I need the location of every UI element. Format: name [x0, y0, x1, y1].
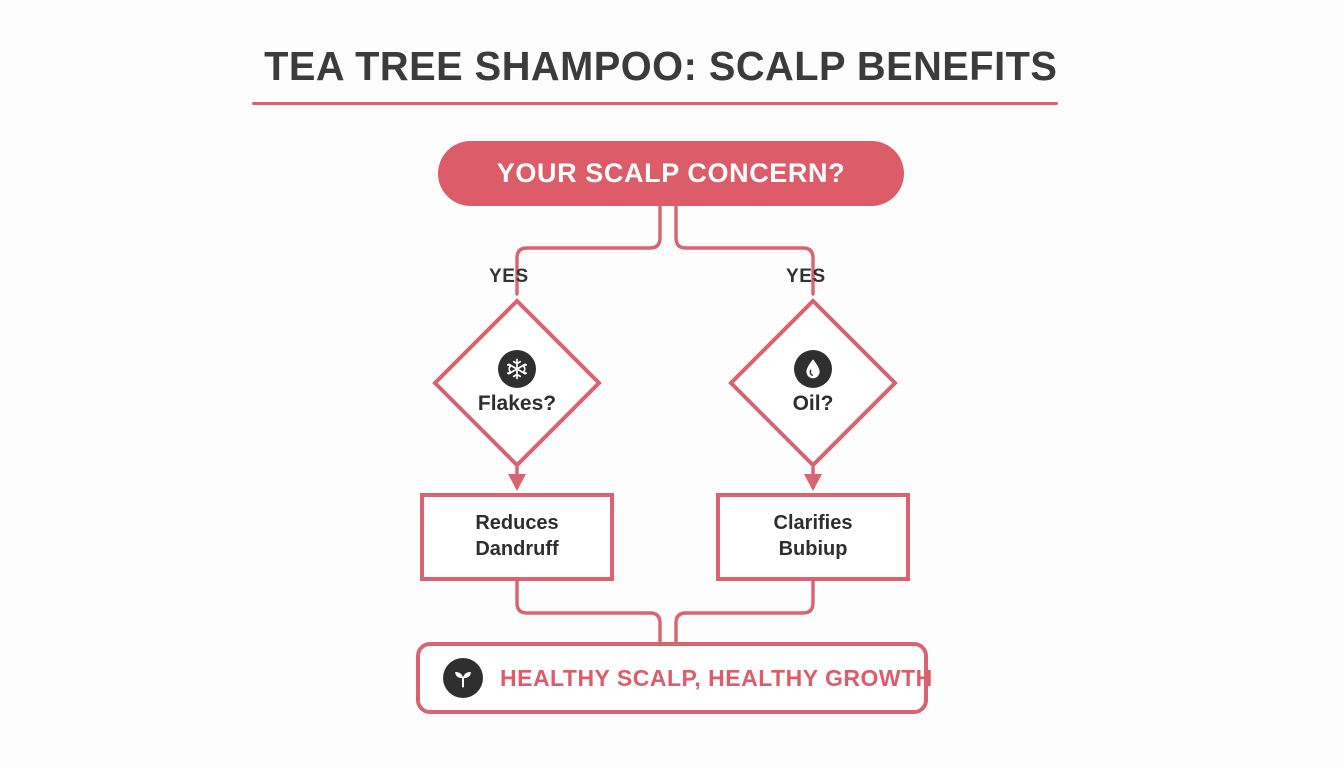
- result-node[interactable]: HEALTHY SCALP, HEALTHY GROWTH: [416, 642, 928, 714]
- decision-node-content: Oil?: [731, 301, 895, 465]
- outcome-line-1: Clarifies: [774, 512, 853, 534]
- water-droplet-icon: [794, 350, 832, 388]
- outcome-line-2: Bubiup: [779, 538, 848, 560]
- sprout-icon: [443, 658, 483, 698]
- outcome-node-buildup[interactable]: Clarifies Bubiup: [716, 493, 910, 581]
- result-node-label: HEALTHY SCALP, HEALTHY GROWTH: [500, 665, 933, 692]
- outcome-node-dandruff[interactable]: Reduces Dandruff: [420, 493, 614, 581]
- title-underline: [252, 102, 1058, 105]
- decision-node-content: Flakes?: [435, 301, 599, 465]
- snowflake-icon: [498, 350, 536, 388]
- decision-node-oil[interactable]: Oil?: [731, 301, 895, 465]
- arrowhead-oil: [804, 474, 822, 491]
- page-title-block: TEA TREE SHAMPOO: SCALP BENEFITS: [252, 44, 1058, 105]
- page-title: TEA TREE SHAMPOO: SCALP BENEFITS: [264, 44, 1046, 89]
- edge-label-yes-left: YES: [489, 266, 529, 288]
- flowchart-canvas: TEA TREE SHAMPOO: SCALP BENEFITS YOUR SC…: [0, 0, 1344, 768]
- start-node[interactable]: YOUR SCALP CONCERN?: [438, 141, 904, 206]
- outcome-line-1: Reduces: [475, 512, 558, 534]
- arrowhead-flakes: [508, 474, 526, 491]
- edge-dandruff-to-result: [517, 581, 660, 642]
- outcome-node-text: Clarifies Bubiup: [774, 511, 853, 562]
- edge-buildup-to-result: [676, 581, 813, 642]
- decision-node-flakes[interactable]: Flakes?: [435, 301, 599, 465]
- decision-node-label: Flakes?: [478, 392, 556, 416]
- outcome-node-text: Reduces Dandruff: [475, 511, 558, 562]
- decision-node-label: Oil?: [793, 392, 834, 416]
- outcome-line-2: Dandruff: [475, 538, 558, 560]
- start-node-label: YOUR SCALP CONCERN?: [497, 158, 845, 189]
- edge-start-to-flakes: [517, 206, 660, 294]
- edge-label-yes-right: YES: [786, 266, 826, 288]
